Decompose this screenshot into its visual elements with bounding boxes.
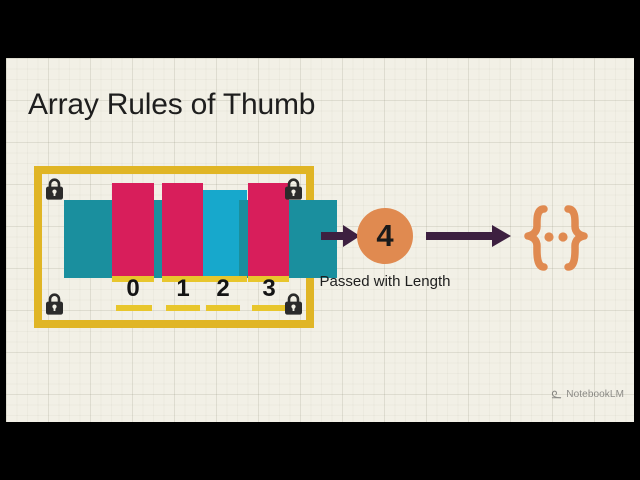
array-bar-front — [112, 183, 154, 278]
array-bar-back — [64, 200, 116, 278]
braces-icon — [520, 205, 592, 271]
page-title: Array Rules of Thumb — [28, 88, 315, 122]
watermark: NotebookLM — [551, 389, 624, 400]
lock-icon — [44, 293, 65, 316]
count-value: 4 — [376, 220, 393, 251]
lock-icon — [283, 178, 304, 201]
slide-screen: Array Rules of Thumb 0 — [0, 0, 640, 480]
slide-canvas: Array Rules of Thumb 0 — [6, 58, 634, 422]
index-underline-bottom — [116, 305, 152, 311]
notebooklm-spiral-icon — [551, 389, 562, 400]
lock-icon — [44, 178, 65, 201]
array-index-label: 1 — [166, 275, 200, 303]
index-underline-bottom — [166, 305, 200, 311]
arrow-count-to-braces — [426, 224, 512, 248]
count-circle: 4 — [357, 208, 413, 264]
array-bars-group: 0 1 2 3 — [42, 174, 306, 320]
array-index-label: 2 — [206, 275, 240, 303]
index-underline-bottom — [206, 305, 240, 311]
arrow-array-to-count — [321, 224, 361, 248]
count-caption: Passed with Length — [304, 273, 466, 290]
lock-icon — [283, 293, 304, 316]
array-index-label: 3 — [252, 275, 286, 303]
array-bar-front — [162, 183, 203, 278]
array-frame: 0 1 2 3 — [34, 166, 314, 328]
array-index-label: 0 — [116, 275, 150, 303]
watermark-label: NotebookLM — [566, 389, 624, 400]
